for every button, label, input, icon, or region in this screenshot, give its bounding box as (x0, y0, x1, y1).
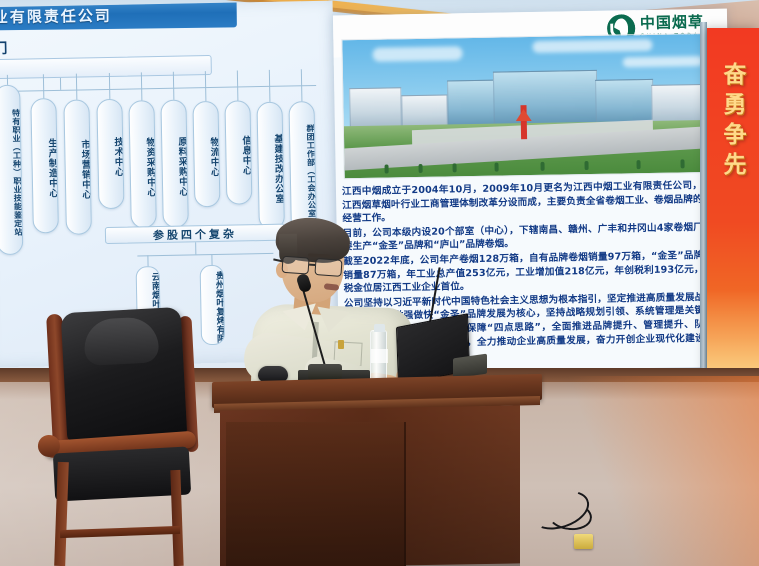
cloud-3 (623, 56, 703, 67)
screen-right-bezel (700, 22, 707, 380)
org-box-0: 特有职业（工种）职业技能鉴定站 (0, 85, 23, 255)
tree-6 (584, 161, 588, 170)
power-plug (574, 534, 593, 549)
chair-stretcher-rail (60, 526, 180, 538)
org-box-1: 生产制造中心 (30, 98, 59, 233)
chair-backrest (61, 307, 188, 443)
org-stub-5 (173, 72, 175, 100)
tree-8 (680, 159, 684, 168)
org-stub-4 (141, 72, 143, 100)
org-sub-stub-0 (147, 255, 148, 266)
wall-banner: 奋勇争先 (707, 28, 759, 380)
laptop (397, 320, 483, 382)
red-monument (516, 105, 531, 139)
banner-text: 奋勇争先 (715, 62, 749, 182)
glasses-bridge (309, 264, 315, 266)
executive-chair (30, 310, 215, 566)
org-sub-stub-1 (211, 254, 212, 265)
tree-5 (540, 162, 544, 171)
banner-glow (707, 290, 759, 380)
water-bottle (370, 330, 387, 382)
building-center-main (493, 70, 598, 130)
podium-shadow (220, 408, 520, 566)
org-box-7: 信息中心 (224, 100, 252, 204)
org-box-4: 物资采购中心 (128, 100, 156, 228)
org-box-2: 市场营销中心 (63, 99, 92, 234)
cloud-2 (532, 39, 652, 53)
tree-7 (636, 160, 640, 169)
cloud-1 (372, 46, 462, 62)
bottle-cap (374, 324, 385, 332)
org-stub-6 (205, 71, 207, 101)
tree-3 (453, 163, 457, 172)
org-stub-8 (269, 70, 271, 102)
name-badge (338, 340, 344, 349)
lens-right (314, 258, 342, 277)
conference-room-photo: 业有限责任公司 部门 特有职业（工种）职业技能鉴定站 生产制造中心 市场营销中心… (0, 0, 759, 566)
org-box-5: 原料采购中心 (160, 99, 188, 227)
org-box-6: 物流中心 (192, 101, 220, 207)
bottle-label (371, 349, 388, 363)
org-stub-7 (237, 70, 239, 100)
factory-photo (341, 33, 721, 180)
org-chart-subtitle: 部门 (0, 34, 138, 59)
org-mid-connector (195, 242, 196, 254)
floor-warm-reflection (519, 376, 759, 566)
org-stub-9 (301, 69, 303, 101)
org-stub-0 (7, 75, 8, 85)
tree-2 (419, 164, 423, 173)
org-box-8: 基建技改办公室 (256, 102, 284, 230)
tree-4 (494, 163, 498, 172)
microphone-base (308, 364, 342, 380)
podium (212, 378, 542, 566)
org-chart-parent-box (0, 55, 212, 80)
tree-1 (385, 165, 389, 174)
chair-leg-left (54, 462, 69, 566)
lens-left (281, 256, 309, 275)
org-box-3: 技术中心 (96, 99, 124, 209)
